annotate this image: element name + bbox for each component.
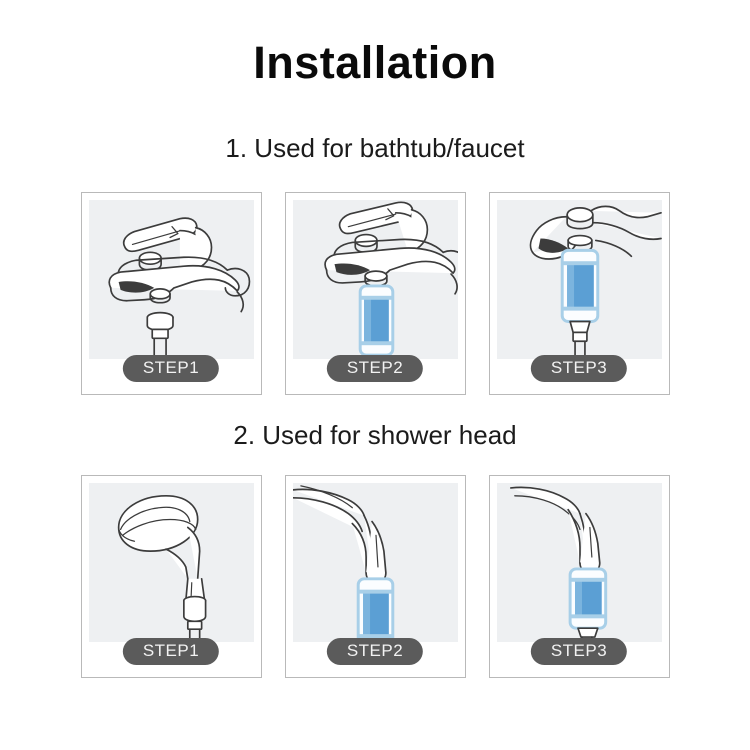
step-badge: STEP2 <box>327 638 423 665</box>
step-badge: STEP2 <box>327 355 423 382</box>
illustration-faucet-with-filter-and-nozzle <box>497 200 662 359</box>
panel-shower-step1: STEP1 <box>81 475 262 678</box>
step-badge: STEP1 <box>123 638 219 665</box>
section-heading-faucet: 1. Used for bathtub/faucet <box>0 134 750 164</box>
installation-guide-page: Installation 1. Used for bathtub/faucet <box>0 0 750 750</box>
panel-faucet-step2: STEP2 <box>285 192 466 395</box>
illustration-shower-handle-with-filter-and-nozzle <box>497 483 662 642</box>
illustration-shower-head-with-detached-connector <box>89 483 254 642</box>
step-badge: STEP3 <box>531 355 627 382</box>
page-title: Installation <box>0 38 750 88</box>
step-badge: STEP1 <box>123 355 219 382</box>
panel-faucet-step3: STEP3 <box>489 192 670 395</box>
section-heading-shower: 2. Used for shower head <box>0 421 750 451</box>
panel-shower-step2: STEP2 <box>285 475 466 678</box>
panel-shower-step3: STEP3 <box>489 475 670 678</box>
illustration-faucet-with-filter-cartridge <box>293 200 458 359</box>
step-badge: STEP3 <box>531 638 627 665</box>
illustration-faucet-with-detached-aerator <box>89 200 254 359</box>
panel-row-shower: STEP1 <box>0 475 750 678</box>
illustration-shower-handle-with-filter-cartridge <box>293 483 458 642</box>
panel-faucet-step1: STEP1 <box>81 192 262 395</box>
panel-row-faucet: STEP1 <box>0 192 750 395</box>
